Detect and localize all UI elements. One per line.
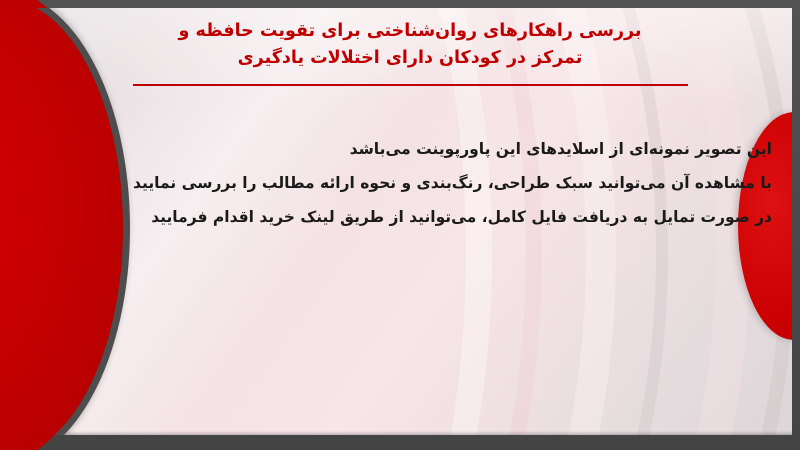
slide-title-line-1: بررسی راهکارهای روان‌شناختی برای تقویت ح… (120, 18, 700, 45)
body-line-1: این تصویر نمونه‌ای از اسلایدهای این پاور… (100, 132, 772, 166)
presentation-slide: بررسی راهکارهای روان‌شناختی برای تقویت ح… (0, 0, 800, 450)
slide-title-line-2: تمرکز در کودکان دارای اختلالات یادگیری (120, 45, 700, 72)
slide-body-text: این تصویر نمونه‌ای از اسلایدهای این پاور… (100, 132, 772, 234)
body-line-2: با مشاهده آن می‌توانید سبک طراحی، رنگ‌بن… (100, 166, 772, 200)
slide-content-panel: بررسی راهکارهای روان‌شناختی برای تقویت ح… (0, 8, 792, 435)
title-divider-rule (133, 84, 688, 86)
body-line-3: در صورت تمایل به دریافت فایل کامل، می‌تو… (100, 200, 772, 234)
slide-title: بررسی راهکارهای روان‌شناختی برای تقویت ح… (120, 18, 700, 72)
